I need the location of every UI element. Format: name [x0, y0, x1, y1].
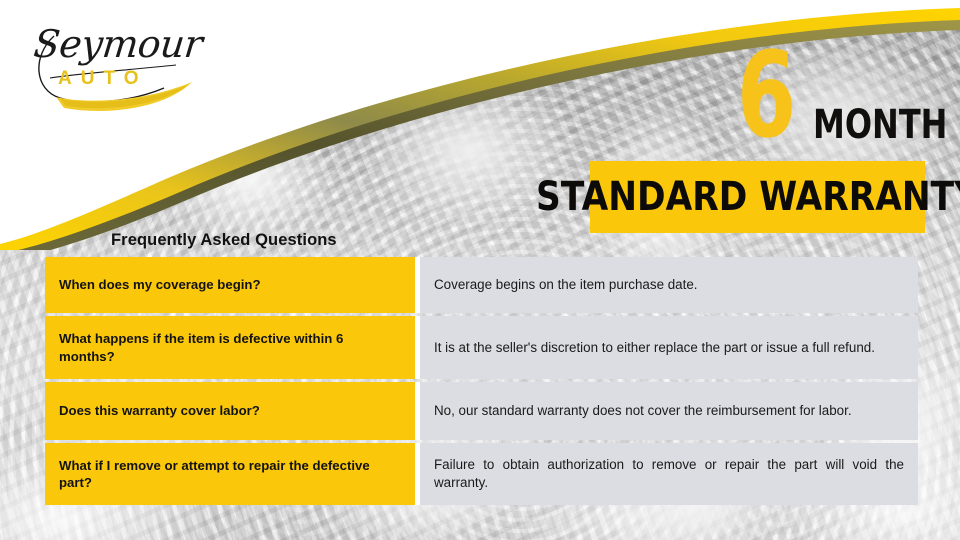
warranty-duration: 6 MONTH: [735, 52, 935, 157]
standard-warranty-banner: STANDARD WARRANTY: [590, 161, 925, 233]
faq-question-text: When does my coverage begin?: [59, 276, 261, 293]
standard-warranty-banner-label: STANDARD WARRANTY: [536, 177, 960, 217]
duration-number: 6: [737, 36, 796, 154]
warranty-slide: Seymour AUTO 6 MONTH STANDARD WARRANTY F…: [0, 0, 960, 540]
faq-answer-text: It is at the seller's discretion to eith…: [434, 339, 904, 357]
faq-question-text: What if I remove or attempt to repair th…: [59, 457, 401, 491]
faq-answer-cell: No, our standard warranty does not cover…: [420, 382, 918, 440]
faq-question-cell: When does my coverage begin?: [45, 257, 415, 313]
faq-answer-text: Failure to obtain authorization to remov…: [434, 456, 904, 491]
faq-question-cell: What happens if the item is defective wi…: [45, 316, 415, 379]
duration-unit: MONTH: [813, 105, 947, 145]
faq-answer-cell: It is at the seller's discretion to eith…: [420, 316, 918, 379]
faq-answer-text: Coverage begins on the item purchase dat…: [434, 276, 904, 294]
faq-question-cell: Does this warranty cover labor?: [45, 382, 415, 440]
faq-answer-cell: Coverage begins on the item purchase dat…: [420, 257, 918, 313]
faq-question-cell: What if I remove or attempt to repair th…: [45, 443, 415, 505]
table-row: What if I remove or attempt to repair th…: [45, 443, 918, 505]
brand-logo: Seymour AUTO: [16, 16, 206, 111]
faq-question-text: Does this warranty cover labor?: [59, 402, 260, 419]
faq-answer-cell: Failure to obtain authorization to remov…: [420, 443, 918, 505]
logo-subtext: AUTO: [58, 68, 147, 90]
table-row: When does my coverage begin? Coverage be…: [45, 257, 918, 313]
faq-question-text: What happens if the item is defective wi…: [59, 330, 401, 364]
faq-section-title: Frequently Asked Questions: [111, 231, 337, 250]
faq-answer-text: No, our standard warranty does not cover…: [434, 402, 904, 420]
table-row: What happens if the item is defective wi…: [45, 316, 918, 379]
logo-swoosh-icon: [16, 16, 206, 111]
faq-table: When does my coverage begin? Coverage be…: [45, 257, 918, 505]
table-row: Does this warranty cover labor? No, our …: [45, 382, 918, 440]
